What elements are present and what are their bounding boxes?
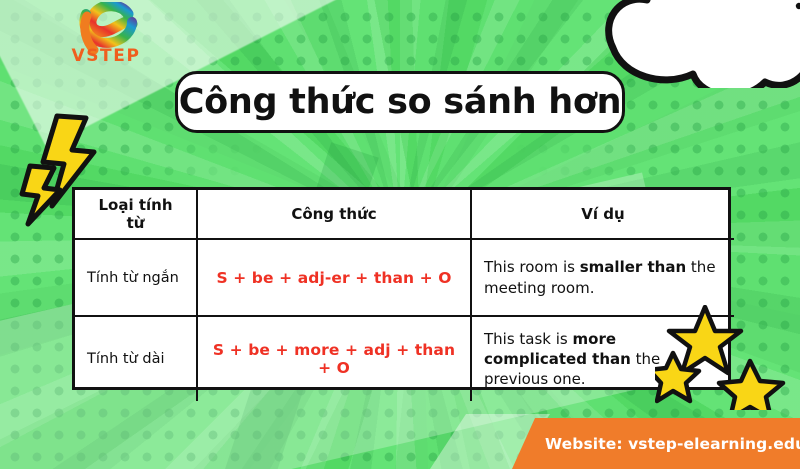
- vstep-logo: VSTEP: [58, 2, 154, 72]
- table-header-formula: Công thức: [197, 190, 471, 239]
- title-pill: Công thức so sánh hơn: [175, 71, 625, 133]
- table-header-type: Loại tính từ: [75, 190, 197, 239]
- comparative-formula-table: Loại tính từ Công thức Ví dụ Tính từ ngắ…: [72, 187, 731, 390]
- vstep-logo-text: VSTEP: [58, 46, 154, 66]
- table-header-row: Loại tính từ Công thức Ví dụ: [75, 190, 734, 239]
- row-formula-long: S + be + more + adj + than + O: [197, 316, 471, 401]
- row-example-long: This task is more complicated than the p…: [471, 316, 734, 401]
- footer-website-label: Website: vstep-elearning.edu.vn: [545, 418, 800, 469]
- row-example-short: This room is smaller than the meeting ro…: [471, 239, 734, 316]
- row-type-long: Tính từ dài: [75, 316, 197, 401]
- table-row: Tính từ ngắn S + be + adj-er + than + O …: [75, 239, 734, 316]
- example-text-pre: This task is: [484, 330, 573, 348]
- row-type-short: Tính từ ngắn: [75, 239, 197, 316]
- page-title: Công thức so sánh hơn: [179, 85, 622, 120]
- table-row: Tính từ dài S + be + more + adj + than +…: [75, 316, 734, 401]
- table-header-example: Ví dụ: [471, 190, 734, 239]
- poster-canvas: VSTEP Công thức so sánh hơn Loại tính từ…: [0, 0, 800, 469]
- example-text-pre: This room is: [484, 258, 580, 276]
- row-formula-short: S + be + adj-er + than + O: [197, 239, 471, 316]
- example-text-bold: smaller than: [580, 258, 686, 276]
